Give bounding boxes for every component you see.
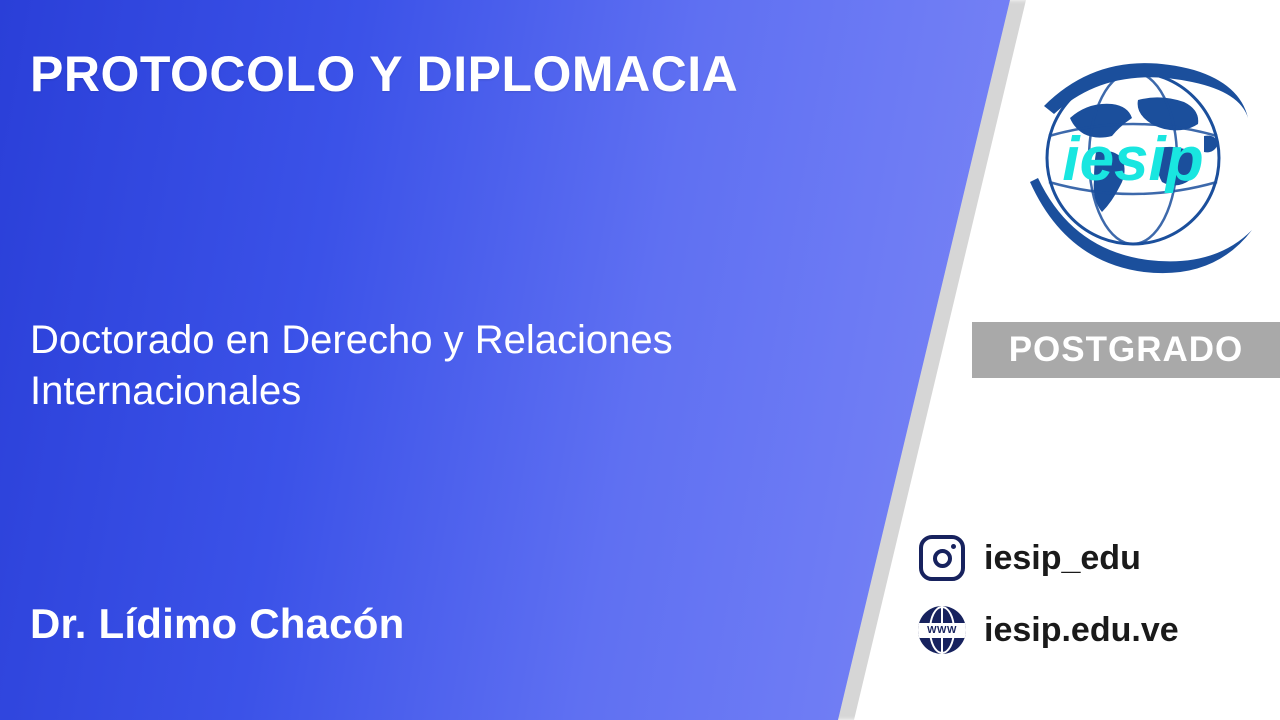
social-row-instagram[interactable]: iesip_edu — [916, 532, 1266, 584]
svg-text:iesip: iesip — [1062, 125, 1203, 194]
program-subtitle: Doctorado en Derecho y Relaciones Intern… — [30, 315, 790, 417]
iesip-logo: iesip — [1008, 40, 1258, 290]
www-globe-icon: WWW — [916, 604, 968, 656]
social-links: iesip_edu WWW iesip.edu.ve — [916, 532, 1266, 676]
instagram-icon — [916, 532, 968, 584]
social-row-website[interactable]: WWW iesip.edu.ve — [916, 604, 1266, 656]
status-badge: POSTGRADO — [972, 322, 1280, 378]
presentation-slide: PROTOCOLO Y DIPLOMACIA Doctorado en Dere… — [0, 0, 1280, 720]
page-title: PROTOCOLO Y DIPLOMACIA — [30, 45, 750, 104]
badge-label: POSTGRADO — [1009, 330, 1244, 370]
instagram-handle: iesip_edu — [984, 539, 1141, 578]
website-url: iesip.edu.ve — [984, 611, 1179, 650]
author-name: Dr. Lídimo Chacón — [30, 600, 404, 648]
